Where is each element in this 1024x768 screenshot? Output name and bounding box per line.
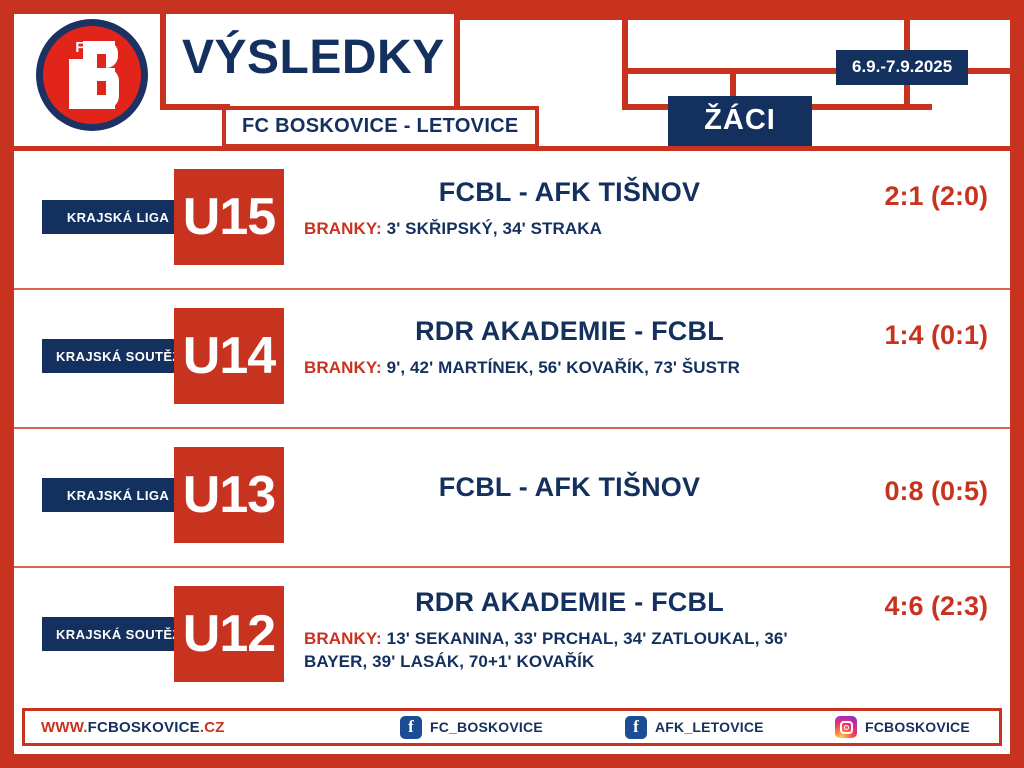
website-name: FCBOSKOVICE — [88, 719, 200, 736]
facebook-icon: f — [400, 716, 422, 739]
goals-label: BRANKY: — [304, 629, 382, 648]
website-link[interactable]: WWW.FCBOSKOVICE.CZ — [41, 719, 225, 736]
age-group-badge: U13 — [174, 447, 284, 543]
match-block: RDR AKADEMIE - FCBL BRANKY: 9', 42' MART… — [304, 317, 835, 380]
results-poster: FC VÝSLEDKY FC BOSKOVICE - LETOVICE 6.9.… — [0, 0, 1024, 768]
match-block: FCBL - AFK TIŠNOV BRANKY: 3' SKŘIPSKÝ, 3… — [304, 178, 835, 241]
goals-text: 3' SKŘIPSKÝ, 34' STRAKA — [387, 219, 602, 238]
results-list: KRAJSKÁ LIGA U15 FCBL - AFK TIŠNOV BRANK… — [14, 146, 1010, 707]
header-rule-vertical-mid — [454, 14, 460, 108]
page-title: VÝSLEDKY — [182, 34, 445, 82]
header-rule-vertical-far-right — [1018, 14, 1024, 74]
match-block: RDR AKADEMIE - FCBL BRANKY: 13' SEKANINA… — [304, 588, 835, 674]
goals-line: BRANKY: 13' SEKANINA, 33' PRCHAL, 34' ZA… — [304, 628, 835, 674]
website-prefix: WWW. — [41, 719, 88, 736]
goals-label: BRANKY: — [304, 358, 382, 377]
age-group-badge: U12 — [174, 586, 284, 682]
league-badge: KRAJSKÁ SOUTĚŽ — [42, 617, 195, 651]
category-badge: ŽÁCI — [668, 96, 812, 148]
match-score: 2:1 (2:0) — [838, 181, 988, 212]
social-handle: FC_BOSKOVICE — [430, 719, 543, 735]
match-title: RDR AKADEMIE - FCBL — [304, 317, 835, 347]
goals-line: BRANKY: 9', 42' MARTÍNEK, 56' KOVAŘÍK, 7… — [304, 357, 835, 380]
club-logo: FC — [36, 19, 148, 131]
result-row: KRAJSKÁ SOUTĚŽ U12 RDR AKADEMIE - FCBL B… — [14, 568, 1010, 707]
logo-monogram-b-bowl-lower — [106, 68, 119, 109]
date-range-badge: 6.9.-7.9.2025 — [836, 50, 968, 85]
instagram-icon — [835, 716, 857, 738]
league-badge: KRAJSKÁ SOUTĚŽ — [42, 339, 195, 373]
result-row: KRAJSKÁ LIGA U15 FCBL - AFK TIŠNOV BRANK… — [14, 151, 1010, 290]
league-badge: KRAJSKÁ LIGA — [42, 478, 194, 512]
social-instagram-fcboskovice[interactable]: FCBOSKOVICE — [835, 716, 970, 738]
social-handle: AFK_LETOVICE — [655, 719, 764, 735]
poster-footer: WWW.FCBOSKOVICE.CZ f FC_BOSKOVICE f AFK_… — [22, 708, 1002, 746]
match-title: RDR AKADEMIE - FCBL — [304, 588, 835, 618]
subtitle-text: FC BOSKOVICE - LETOVICE — [242, 115, 519, 137]
match-title: FCBL - AFK TIŠNOV — [304, 178, 835, 208]
match-score: 4:6 (2:3) — [838, 591, 988, 622]
header-rule-horizontal-left — [160, 104, 230, 110]
goals-line: BRANKY: 3' SKŘIPSKÝ, 34' STRAKA — [304, 218, 835, 241]
poster-header: FC VÝSLEDKY FC BOSKOVICE - LETOVICE 6.9.… — [14, 14, 1010, 146]
match-score: 1:4 (0:1) — [838, 320, 988, 351]
league-badge: KRAJSKÁ LIGA — [42, 200, 194, 234]
age-group-badge: U15 — [174, 169, 284, 265]
goals-label: BRANKY: — [304, 219, 382, 238]
subtitle-box: FC BOSKOVICE - LETOVICE — [222, 106, 539, 148]
header-rule-vertical-left — [160, 14, 166, 110]
social-facebook-afk-letovice[interactable]: f AFK_LETOVICE — [625, 716, 764, 739]
social-handle: FCBOSKOVICE — [865, 719, 970, 735]
match-score: 0:8 (0:5) — [838, 476, 988, 507]
age-group-badge: U14 — [174, 308, 284, 404]
facebook-icon: f — [625, 716, 647, 739]
social-facebook-fc-boskovice[interactable]: f FC_BOSKOVICE — [400, 716, 543, 739]
header-rule-vertical-right-outer — [622, 14, 628, 110]
match-block: FCBL - AFK TIŠNOV — [304, 473, 835, 503]
header-rule-horizontal-top — [454, 14, 1024, 20]
result-row: KRAJSKÁ LIGA U13 FCBL - AFK TIŠNOV 0:8 (… — [14, 429, 1010, 568]
result-row: KRAJSKÁ SOUTĚŽ U14 RDR AKADEMIE - FCBL B… — [14, 290, 1010, 429]
goals-text: 9', 42' MARTÍNEK, 56' KOVAŘÍK, 73' ŠUSTR — [387, 358, 740, 377]
match-title: FCBL - AFK TIŠNOV — [304, 473, 835, 503]
website-suffix: .CZ — [200, 719, 225, 736]
